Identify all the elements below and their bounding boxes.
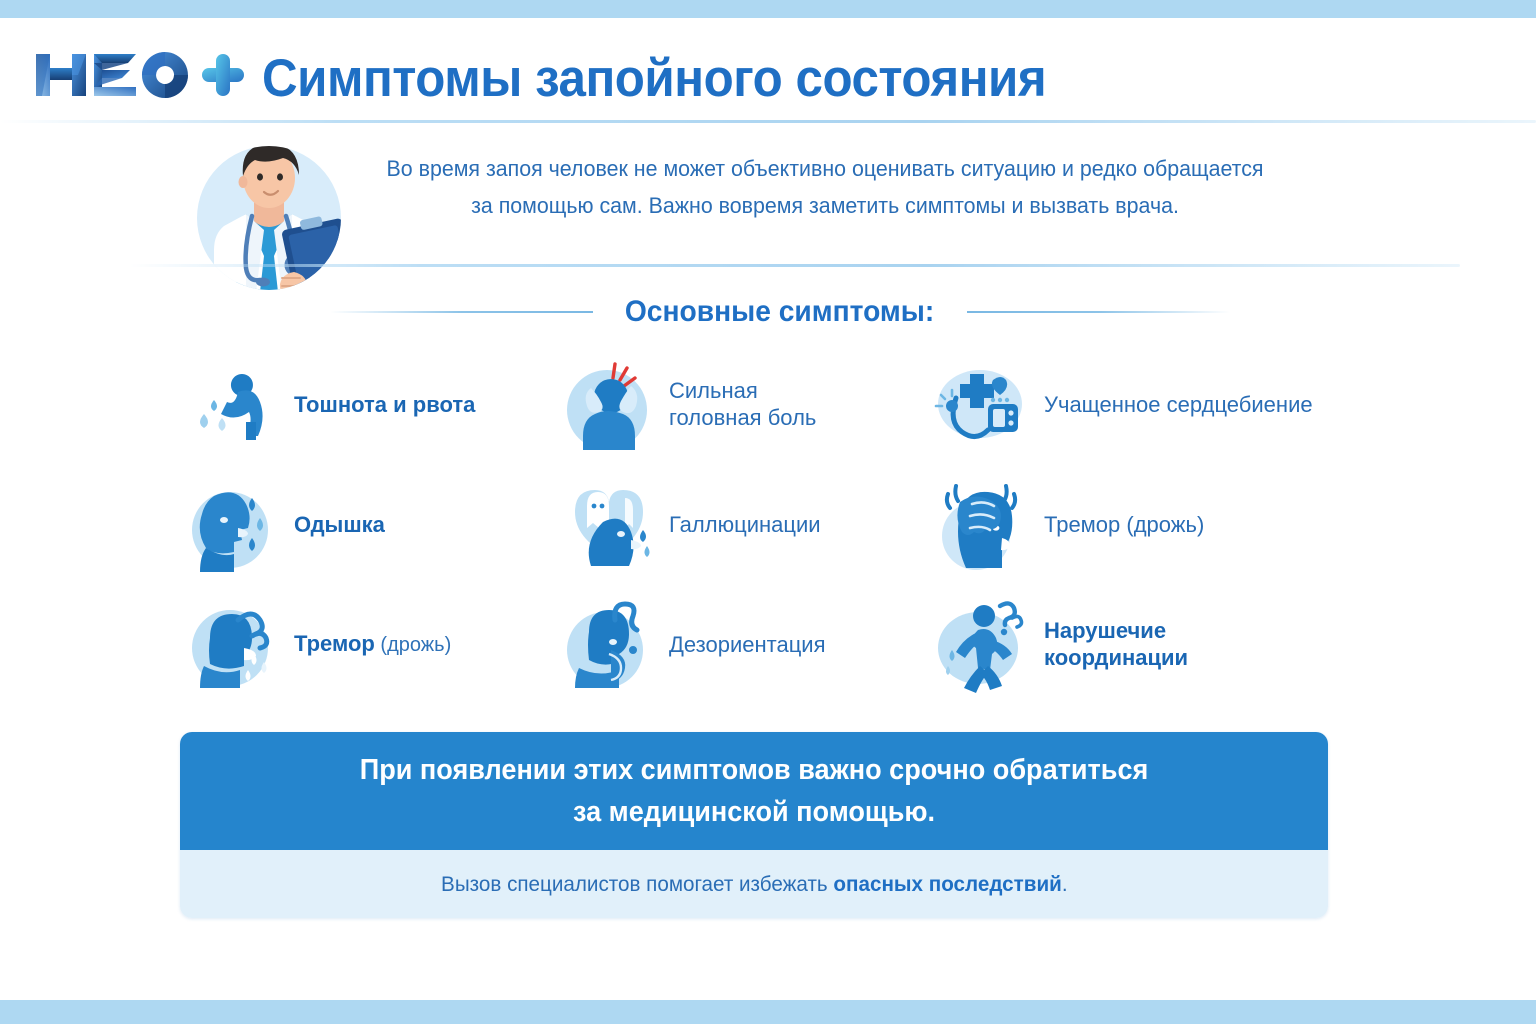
- symptom-item: Одышка: [180, 464, 555, 584]
- section-heading: Основные симптомы:: [330, 288, 1230, 336]
- banner-note: Вызов специалистов помогает избежать опа…: [441, 869, 1068, 899]
- symptom-label: Тремор (дрожь): [294, 630, 451, 659]
- symptom-label: Сильная головная боль: [669, 377, 816, 431]
- symptom-item: Учащенное сердцебиение: [930, 344, 1360, 464]
- header-divider: [0, 120, 1536, 123]
- symptom-label: Дезориентация: [669, 631, 826, 658]
- banner-note-suffix: .: [1062, 872, 1068, 896]
- call-to-action-banner: При появлении этих симптомов важно срочн…: [180, 732, 1328, 918]
- page-title: Симптомы запойного состояния: [262, 48, 1046, 109]
- top-accent-band: [0, 0, 1536, 18]
- symptom-item: Тошнота и рвота: [180, 344, 555, 464]
- hallucination-icon: [555, 472, 659, 576]
- banner-note-emphasis: опасных последствий: [833, 872, 1061, 896]
- infographic-page: Симптомы запойного состояния: [0, 0, 1536, 1024]
- heart-rate-icon: [930, 352, 1034, 456]
- intro-text: Во время запоя человек не может объектив…: [345, 150, 1305, 224]
- doctor-illustration: [176, 132, 362, 310]
- banner-note-area: Вызов специалистов помогает избежать опа…: [180, 850, 1328, 918]
- disorientation-icon: [555, 592, 659, 696]
- intro-divider: [130, 264, 1460, 267]
- tremor-head-icon: [930, 472, 1034, 576]
- tremor-sweat-icon: [180, 592, 284, 696]
- symptom-label: Учащенное сердцебиение: [1044, 391, 1313, 418]
- neo-plus-logo: [28, 44, 248, 106]
- symptom-label: Одышка: [294, 511, 385, 538]
- symptom-item: Нарушечие координации: [930, 584, 1360, 704]
- symptom-item: Тремор (дрожь): [180, 584, 555, 704]
- header: Симптомы запойного состояния: [0, 18, 1536, 118]
- symptom-label-sub: (дрожь): [375, 634, 451, 656]
- coordination-icon: [930, 592, 1034, 696]
- symptom-item: Сильная головная боль: [555, 344, 930, 464]
- symptom-label: Галлюцинации: [669, 511, 821, 538]
- intro-block: Во время запоя человек не может объектив…: [176, 132, 1356, 252]
- intro-line-2: за помощью сам. Важно вовремя заметить с…: [345, 187, 1305, 224]
- symptom-label-main: Тремор: [294, 631, 375, 656]
- symptoms-grid: Тошнота и рвота Сильная головная боль: [180, 344, 1360, 704]
- shortness-breath-icon: [180, 472, 284, 576]
- banner-headline-area: При появлении этих симптомов важно срочн…: [180, 732, 1328, 850]
- banner-headline: При появлении этих симптомов важно срочн…: [360, 749, 1149, 833]
- symptom-item: Галлюцинации: [555, 464, 930, 584]
- symptom-item: Дезориентация: [555, 584, 930, 704]
- symptom-item: Тремор (дрожь): [930, 464, 1360, 584]
- symptom-label: Тремор (дрожь): [1044, 511, 1204, 538]
- headache-icon: [555, 352, 659, 456]
- banner-note-prefix: Вызов специалистов помогает избежать: [441, 872, 833, 896]
- section-rule-left: [330, 311, 593, 313]
- section-rule-right: [967, 311, 1230, 313]
- vomiting-icon: [180, 352, 284, 456]
- section-title: Основные симптомы:: [625, 295, 934, 329]
- intro-line-1: Во время запоя человек не может объектив…: [345, 150, 1305, 187]
- bottom-accent-band: [0, 1000, 1536, 1024]
- symptom-label: Нарушечие координации: [1044, 617, 1188, 671]
- symptom-label: Тошнота и рвота: [294, 391, 475, 418]
